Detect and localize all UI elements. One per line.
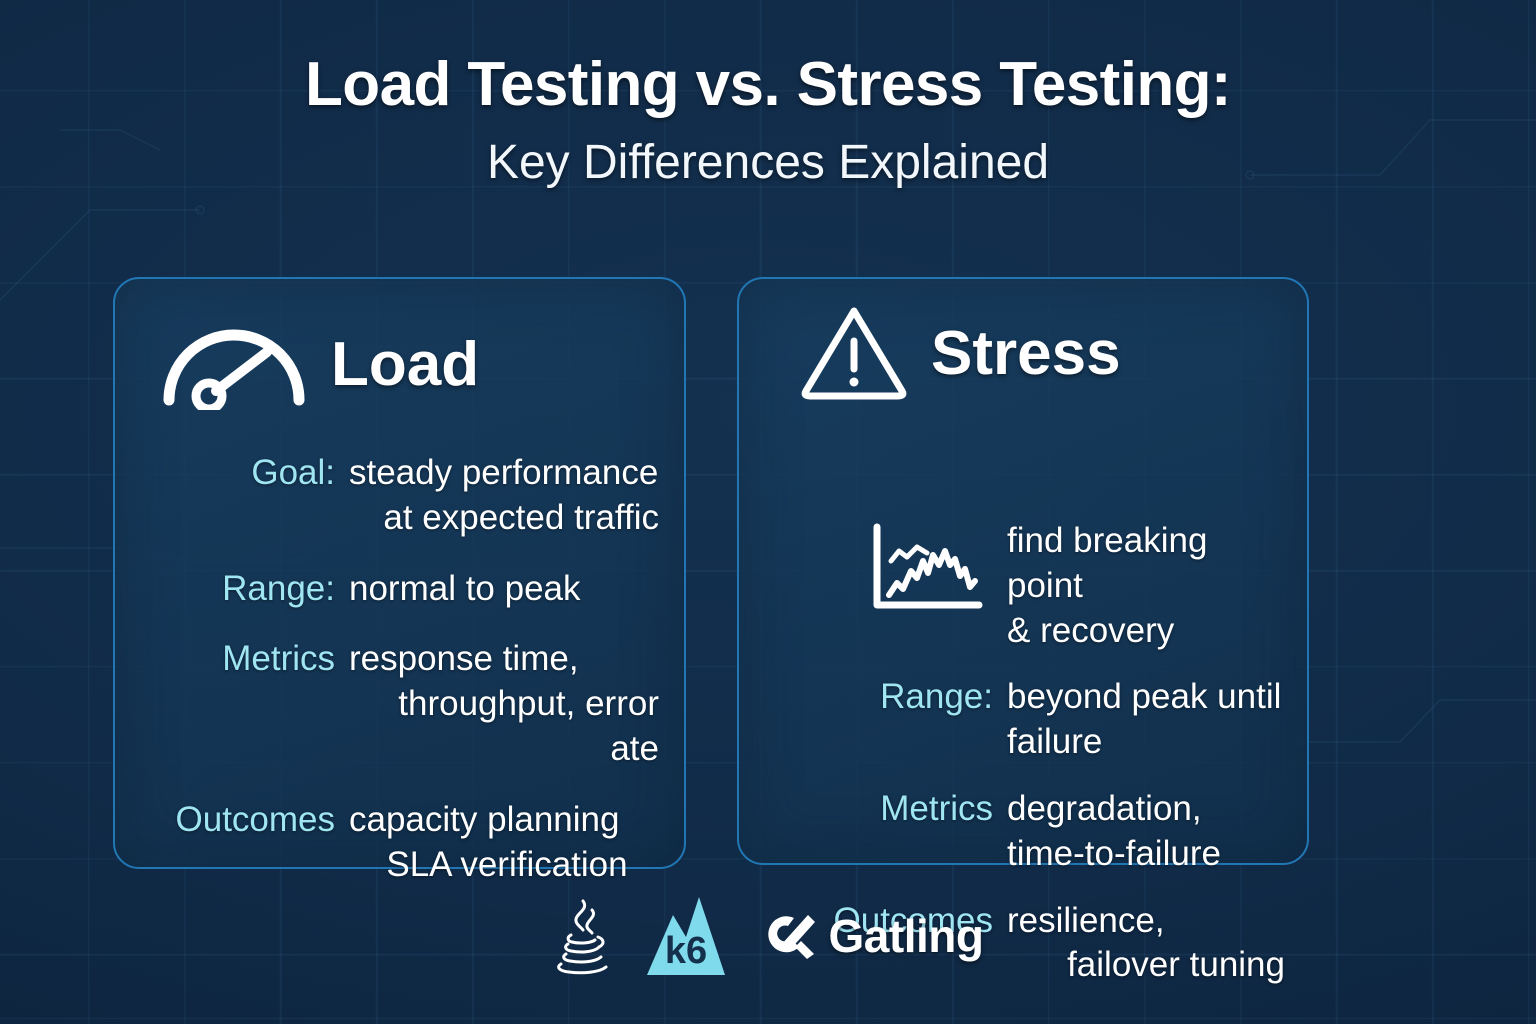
row-goal-line-1: find breaking point (1007, 519, 1291, 609)
row-outcomes-line-1: capacity planning (349, 798, 665, 843)
row-outcomes-value: capacity planning SLA verification (335, 798, 665, 888)
row-metrics-label: Metrics (761, 787, 993, 832)
row-outcomes-label: Outcomes (145, 798, 335, 843)
row-range-line-1: normal to peak (349, 567, 665, 612)
row-goal: Goal: steady performance at expected tra… (145, 451, 665, 541)
gauge-icon (159, 314, 309, 415)
row-goal-value: find breaking point & recovery (993, 519, 1291, 653)
gatling-logo: Gatling (761, 909, 984, 963)
row-outcomes-line-2: SLA verification (349, 843, 665, 888)
row-metrics-line-1: degradation, (1007, 787, 1291, 832)
stress-testing-card: Stress find breaking point & recovery (737, 277, 1309, 865)
row-range-label: Range: (145, 567, 335, 612)
row-goal: find breaking point & recovery (761, 519, 1291, 653)
row-range-line-1: beyond peak until (1007, 675, 1291, 720)
load-card-title: Load (331, 334, 479, 396)
tool-logos-row: k6 Gatling (0, 895, 1536, 977)
row-metrics-line-2: time-to-failure (1007, 832, 1291, 877)
row-goal-label (761, 519, 993, 628)
row-outcomes: Outcomes capacity planning SLA verificat… (145, 798, 665, 888)
row-range-label: Range: (761, 675, 993, 720)
stress-card-header: Stress (799, 301, 1121, 406)
row-range-line-2: failure (1007, 720, 1291, 765)
line-chart-icon (867, 521, 987, 628)
row-range: Range: normal to peak (145, 567, 665, 612)
row-metrics: Metrics response time, throughput, error… (145, 637, 665, 771)
row-metrics-line-2: throughput, error ate (349, 682, 665, 772)
load-testing-card: Load Goal: steady performance at expecte… (113, 277, 686, 869)
infographic-canvas: Load Testing vs. Stress Testing: Key Dif… (0, 0, 1536, 1024)
load-card-header: Load (159, 314, 479, 415)
row-metrics-label: Metrics (145, 637, 335, 682)
row-metrics-line-1: response time, (349, 637, 665, 682)
row-goal-line-1: steady performance (349, 451, 665, 496)
row-range-value: normal to peak (335, 567, 665, 612)
row-goal-label: Goal: (145, 451, 335, 496)
row-metrics: Metrics degradation, time-to-failure (761, 787, 1291, 877)
stress-card-title: Stress (931, 323, 1121, 385)
gatling-wordmark: Gatling (829, 909, 984, 963)
row-range-value: beyond peak until failure (993, 675, 1291, 765)
svg-text:k6: k6 (664, 930, 706, 972)
warning-triangle-icon (799, 301, 909, 406)
row-metrics-value: response time, throughput, error ate (335, 637, 665, 771)
gatling-mark-icon (761, 911, 817, 961)
k6-logo: k6 (643, 895, 729, 977)
row-goal-line-2: & recovery (1007, 609, 1291, 654)
row-metrics-value: degradation, time-to-failure (993, 787, 1291, 877)
row-goal-value: steady performance at expected traffic (335, 451, 665, 541)
load-card-rows: Goal: steady performance at expected tra… (145, 451, 665, 887)
row-range: Range: beyond peak until failure (761, 675, 1291, 765)
java-logo (553, 897, 611, 975)
row-goal-line-2: at expected traffic (349, 496, 665, 541)
